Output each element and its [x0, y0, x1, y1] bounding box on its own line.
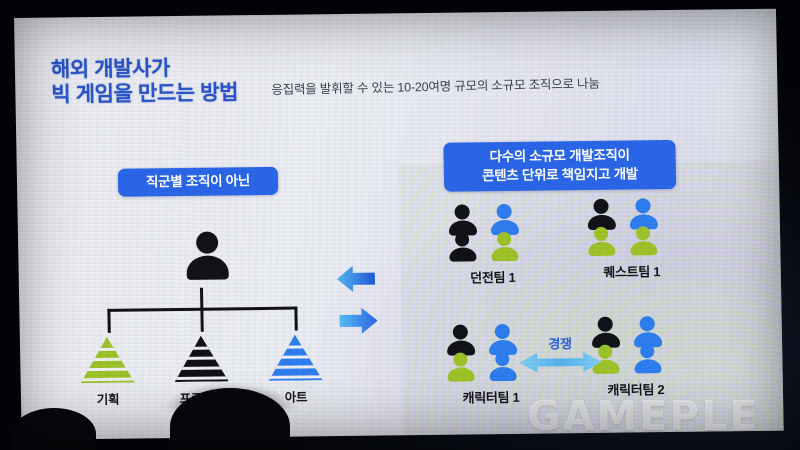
team-character-2-people-icon — [592, 316, 679, 373]
team-quest-1-label: 퀘스트팀 1 — [576, 261, 688, 281]
left-section-banner: 직군별 조직이 아닌 — [118, 167, 279, 197]
team-dungeon-1-label: 던전팀 1 — [437, 266, 549, 286]
team-dungeon-1: 던전팀 1 — [435, 203, 548, 286]
competition-double-arrow-icon — [517, 351, 603, 374]
pyramid-programming-shape — [174, 335, 229, 382]
pyramid-planning — [80, 337, 135, 384]
slide-content: 해외 개발사가 빅 게임을 만드는 방법 응집력을 발휘할 수 있는 10-20… — [14, 9, 784, 440]
photo-of-presentation-screen: 해외 개발사가 빅 게임을 만드는 방법 응집력을 발휘할 수 있는 10-20… — [0, 0, 800, 450]
org-chart-connector — [107, 287, 298, 335]
team-quest-1-people-icon — [587, 198, 674, 255]
right-banner-line-2: 콘텐츠 단위로 책임지고 개발 — [444, 164, 676, 186]
pyramid-planning-shape — [80, 337, 135, 384]
pyramid-art — [268, 334, 323, 381]
team-character-1-label: 캐릭터팀 1 — [435, 387, 547, 407]
presentation-slide: 해외 개발사가 빅 게임을 만드는 방법 응집력을 발휘할 수 있는 10-20… — [14, 9, 784, 440]
title-line-2: 빅 게임을 만드는 방법 — [51, 80, 238, 107]
pyramid-label-planning: 기획 — [63, 388, 153, 408]
team-character-2-label: 캐릭터팀 2 — [580, 379, 692, 399]
team-quest-1: 퀘스트팀 1 — [574, 198, 687, 281]
pyramid-art-shape — [268, 334, 323, 381]
competition-label: 경쟁 — [528, 333, 592, 353]
subtitle: 응집력을 발휘할 수 있는 10-20여명 규모의 소규모 조직으로 나눔 — [271, 76, 600, 98]
projection-screen: 해외 개발사가 빅 게임을 만드는 방법 응집력을 발휘할 수 있는 10-20… — [14, 9, 784, 440]
arrow-left-icon — [335, 264, 378, 295]
pyramid-programming — [174, 335, 229, 382]
page-title: 해외 개발사가 빅 게임을 만드는 방법 — [51, 55, 238, 107]
team-dungeon-1-people-icon — [448, 204, 535, 261]
title-line-1: 해외 개발사가 — [51, 55, 238, 82]
arrow-right-icon — [337, 306, 380, 337]
right-section-banner: 다수의 소규모 개발조직이 콘텐츠 단위로 책임지고 개발 — [443, 140, 676, 192]
